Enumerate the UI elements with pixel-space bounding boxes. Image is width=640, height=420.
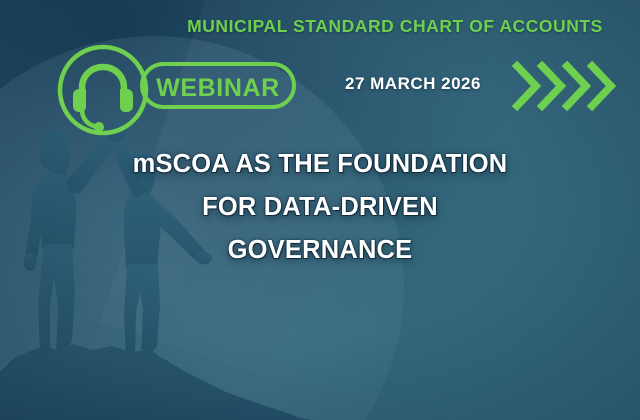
title-line-3: GOVERNANCE xyxy=(50,229,590,272)
webinar-pill: WEBINAR xyxy=(140,62,296,109)
title-line-2: FOR DATA-DRIVEN xyxy=(50,186,590,229)
webinar-banner: MUNICIPAL STANDARD CHART OF ACCOUNTS WEB… xyxy=(0,0,640,420)
page-title: mSCOA AS THE FOUNDATION FOR DATA-DRIVEN … xyxy=(50,143,590,272)
eyebrow-heading: MUNICIPAL STANDARD CHART OF ACCOUNTS xyxy=(0,16,640,37)
webinar-badge: WEBINAR xyxy=(50,41,300,139)
headset-icon xyxy=(56,43,150,137)
webinar-label: WEBINAR xyxy=(144,74,292,103)
event-date: 27 MARCH 2026 xyxy=(345,74,481,94)
chevron-right-icon xyxy=(512,58,620,114)
title-line-1: mSCOA AS THE FOUNDATION xyxy=(50,143,590,186)
